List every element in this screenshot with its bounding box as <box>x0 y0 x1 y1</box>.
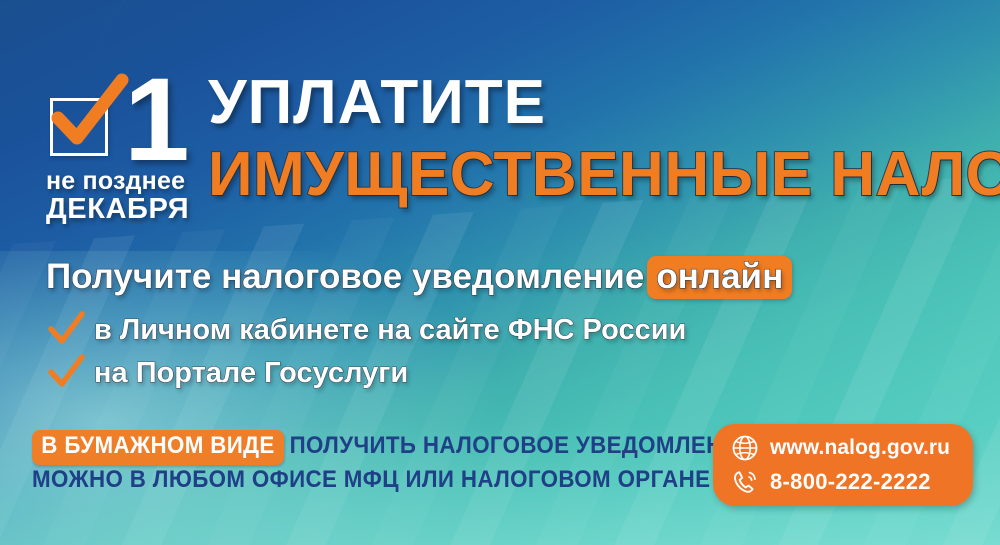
list-item-label: на Портале Госуслуги <box>94 357 408 390</box>
online-badge: онлайн <box>647 256 792 299</box>
headline: УПЛАТИТЕ ИМУЩЕСТВЕННЫЕ НАЛОГИ <box>208 72 988 206</box>
website-value: www.nalog.gov.ru <box>770 436 950 460</box>
online-title-text: Получите налоговое уведомление <box>46 257 644 296</box>
deadline-block: 1 не позднее ДЕКАБРЯ <box>46 72 226 225</box>
checkmark-shape <box>44 74 130 160</box>
website-row[interactable]: www.nalog.gov.ru <box>713 431 973 465</box>
list-item-label: в Личном кабинете на сайте ФНС России <box>94 314 686 347</box>
list-item: на Портале Госуслуги <box>46 354 876 392</box>
list-item: в Личном кабинете на сайте ФНС России <box>46 311 876 349</box>
phone-call-icon <box>730 467 760 497</box>
checkbox-checked-icon <box>46 88 120 162</box>
paper-badge: В БУМАЖНОМ ВИДЕ <box>32 430 284 465</box>
paper-notice-line-1-rest: ПОЛУЧИТЬ НАЛОГОВОЕ УВЕДОМЛЕНИЕ <box>290 432 755 459</box>
online-title: Получите налоговое уведомлениеонлайн <box>46 256 876 299</box>
paper-notice-line-1: В БУМАЖНОМ ВИДЕПОЛУЧИТЬ НАЛОГОВОЕ УВЕДОМ… <box>32 430 627 465</box>
deadline-number: 1 <box>124 72 188 169</box>
headline-line-2: ИМУЩЕСТВЕННЫЕ НАЛОГИ <box>208 144 988 206</box>
check-icon <box>46 311 86 349</box>
deadline-text: не позднее ДЕКАБРЯ <box>46 168 226 225</box>
deadline-line-2: ДЕКАБРЯ <box>46 194 226 224</box>
globe-icon <box>730 433 760 463</box>
paper-notice-section: В БУМАЖНОМ ВИДЕПОЛУЧИТЬ НАЛОГОВОЕ УВЕДОМ… <box>32 430 672 495</box>
tax-payment-banner: 1 не позднее ДЕКАБРЯ УПЛАТИТЕ ИМУЩЕСТВЕН… <box>0 0 1000 545</box>
paper-notice-line-2: МОЖНО В ЛЮБОМ ОФИСЕ МФЦ ИЛИ НАЛОГОВОМ ОР… <box>32 465 627 496</box>
online-section: Получите налоговое уведомлениеонлайн в Л… <box>46 256 876 397</box>
online-channel-list: в Личном кабинете на сайте ФНС России на… <box>46 311 876 392</box>
phone-row[interactable]: 8-800-222-2222 <box>713 465 973 499</box>
phone-value: 8-800-222-2222 <box>770 469 931 495</box>
deadline-line-1: не позднее <box>46 168 226 194</box>
check-icon <box>46 354 86 392</box>
headline-line-1: УПЛАТИТЕ <box>208 72 988 134</box>
deadline-row: 1 <box>46 72 226 170</box>
contact-panel: www.nalog.gov.ru 8-800-222-2222 <box>713 424 973 506</box>
